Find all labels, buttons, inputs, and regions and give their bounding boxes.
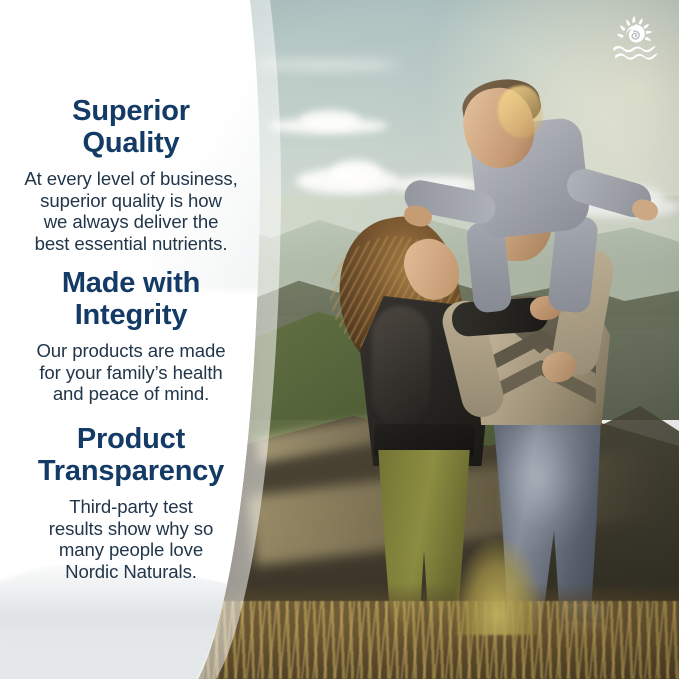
heading-line: Made with xyxy=(62,267,200,299)
body-line: At every level of business, xyxy=(24,168,237,189)
body-line: superior quality is how xyxy=(40,190,222,211)
heading-line: Quality xyxy=(83,127,180,159)
heading-line: Transparency xyxy=(38,455,224,487)
heading-line: Product xyxy=(77,423,185,455)
value-block-product-transparency: Product Transparency Third-party test re… xyxy=(0,423,262,582)
block-heading: Product Transparency xyxy=(12,423,250,487)
woman-jacket-highlight xyxy=(372,306,430,426)
cloud xyxy=(300,110,360,130)
body-line: we always deliver the xyxy=(44,211,219,232)
body-line: Our products are made xyxy=(36,340,225,361)
cloud xyxy=(330,160,382,186)
sun-wave-logo-icon xyxy=(608,14,662,62)
heading-line: Superior xyxy=(72,95,190,127)
body-line: for your family’s health xyxy=(39,362,222,383)
value-block-superior-quality: Superior Quality At every level of busin… xyxy=(0,95,262,254)
body-line: results show why so xyxy=(49,518,213,539)
block-heading: Made with Integrity xyxy=(12,267,250,331)
body-line: many people love xyxy=(59,539,203,560)
body-line: Nordic Naturals. xyxy=(65,561,197,582)
jeans-fade-highlight xyxy=(500,430,592,550)
cloud xyxy=(250,60,400,70)
block-body: At every level of business, superior qua… xyxy=(12,168,250,254)
block-body: Third-party test results show why so man… xyxy=(12,496,250,582)
dry-bush xyxy=(455,539,541,635)
heading-line: Integrity xyxy=(75,299,188,331)
promo-image: Superior Quality At every level of busin… xyxy=(0,0,679,679)
body-line: best essential nutrients. xyxy=(35,233,228,254)
block-heading: Superior Quality xyxy=(12,95,250,159)
body-line: Third-party test xyxy=(69,496,192,517)
value-block-made-with-integrity: Made with Integrity Our products are mad… xyxy=(0,267,262,405)
value-propositions: Superior Quality At every level of busin… xyxy=(0,0,262,679)
body-line: and peace of mind. xyxy=(53,383,209,404)
block-body: Our products are made for your family’s … xyxy=(12,340,250,405)
